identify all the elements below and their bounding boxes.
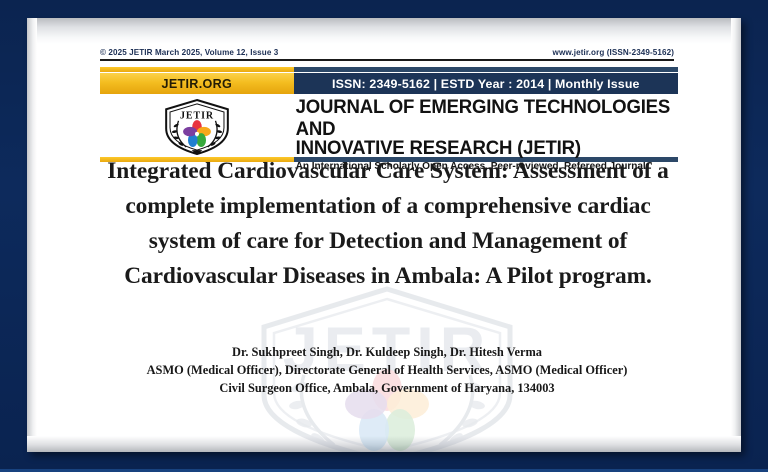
svg-text:JETIR: JETIR — [180, 111, 214, 122]
author-names: Dr. Sukhpreet Singh, Dr. Kuldeep Singh, … — [87, 344, 687, 361]
running-head-right[interactable]: www.jetir.org (ISSN-2349-5162) — [553, 48, 674, 57]
issn-bar: ISSN: 2349-5162 | ESTD Year : 2014 | Mon… — [294, 73, 678, 94]
article-title: Integrated Cardiovascular Care System: A… — [99, 154, 677, 294]
author-block: Dr. Sukhpreet Singh, Dr. Kuldeep Singh, … — [87, 344, 687, 397]
rule-yellow-segment — [100, 67, 294, 72]
journal-identity-block: JETIR — [100, 96, 678, 154]
window-background: JETIR — [0, 0, 768, 472]
journal-name-line-1: JOURNAL OF EMERGING TECHNOLOGIES AND — [296, 96, 678, 139]
author-address: Civil Surgeon Office, Ambala, Government… — [87, 379, 687, 397]
rule-navy-segment — [294, 67, 678, 72]
running-head: © 2025 JETIR March 2025, Volume 12, Issu… — [100, 48, 674, 61]
document-page: JETIR — [27, 18, 741, 452]
journal-masthead: JETIR.ORG ISSN: 2349-5162 | ESTD Year : … — [100, 67, 678, 162]
page-content: © 2025 JETIR March 2025, Volume 12, Issu… — [27, 18, 741, 452]
author-affiliation: ASMO (Medical Officer), Directorate Gene… — [87, 361, 687, 379]
jetir-shield-icon: JETIR — [160, 97, 234, 157]
jetir-org-tag[interactable]: JETIR.ORG — [100, 73, 294, 94]
issn-row: JETIR.ORG ISSN: 2349-5162 | ESTD Year : … — [100, 73, 678, 94]
running-head-left: © 2025 JETIR March 2025, Volume 12, Issu… — [100, 48, 278, 57]
masthead-top-rule — [100, 67, 678, 72]
jetir-logo: JETIR — [100, 96, 294, 157]
